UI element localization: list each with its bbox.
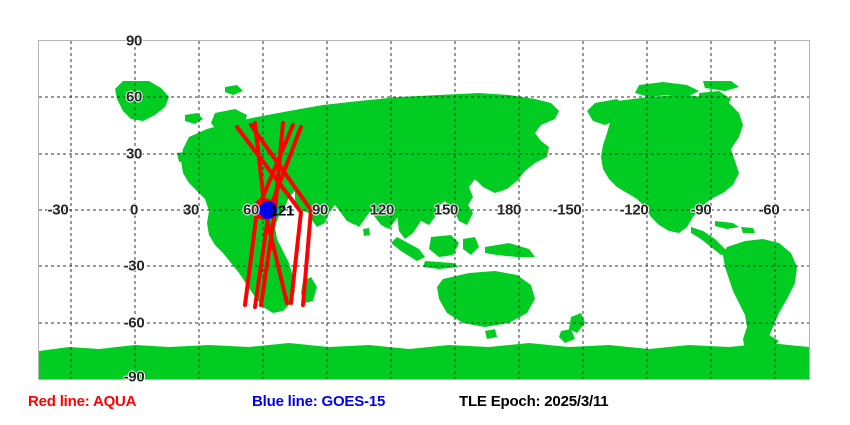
legend: Red line: AQUA Blue line: GOES-15 TLE Ep… (0, 393, 850, 417)
lat-tick-label: -60 (124, 315, 145, 332)
lat-tick-label: -90 (124, 369, 145, 386)
lon-tick-label: 30 (183, 202, 199, 219)
lon-tick-label: -30 (48, 202, 69, 219)
legend-blue-line: Blue line: GOES-15 (252, 393, 385, 410)
lon-tick-label: 120 (370, 202, 394, 219)
lat-tick-label: 30 (126, 146, 142, 163)
lon-tick-label: -90 (691, 202, 712, 219)
legend-tle-epoch: TLE Epoch: 2025/3/11 (459, 393, 608, 410)
lon-tick-label: 90 (312, 202, 328, 219)
lat-tick-label-zero: 0 (130, 202, 138, 219)
world-map: -30 0 30 60 90 120 150 180 -150 -120 -90… (38, 40, 810, 380)
lat-tick-label: 90 (126, 33, 142, 50)
lon-tick-label: 180 (497, 202, 521, 219)
lon-tick-label: -120 (620, 202, 649, 219)
legend-red-line: Red line: AQUA (28, 393, 136, 410)
lon-tick-label: 150 (434, 202, 458, 219)
satellite-track-figure: -30 0 30 60 90 120 150 180 -150 -120 -90… (0, 0, 850, 425)
lon-tick-label: -60 (759, 202, 780, 219)
lat-tick-label: -30 (124, 258, 145, 275)
lat-tick-label: 60 (126, 89, 142, 106)
lon-tick-label: -150 (553, 202, 582, 219)
satellite-point-label: 121 (270, 203, 294, 220)
lon-tick-label: 60 (243, 202, 259, 219)
land-sri-lanka (363, 228, 370, 236)
land-antarctica (39, 343, 809, 379)
